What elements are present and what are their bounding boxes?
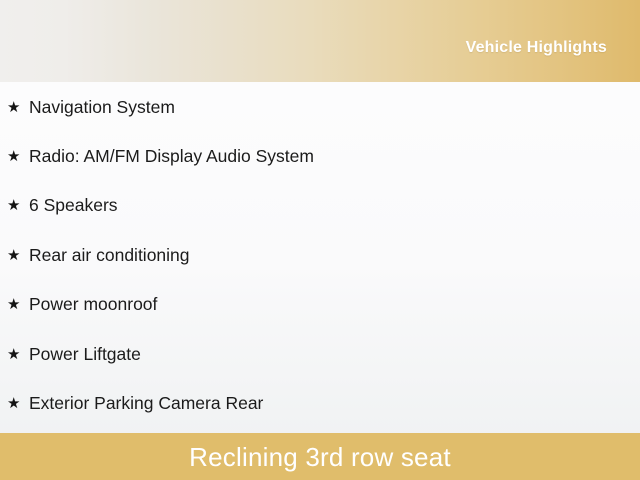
list-item-label: Exterior Parking Camera Rear: [29, 394, 263, 413]
list-item: ★ Exterior Parking Camera Rear: [0, 379, 640, 429]
star-icon: ★: [7, 149, 29, 164]
list-item-label: 6 Speakers: [29, 196, 118, 215]
list-item-label: Power Liftgate: [29, 345, 141, 364]
star-icon: ★: [7, 347, 29, 362]
list-item-label: Radio: AM/FM Display Audio System: [29, 147, 314, 166]
vehicle-highlights-list: ★ Navigation System ★ Radio: AM/FM Displ…: [0, 82, 640, 433]
star-icon: ★: [7, 248, 29, 263]
list-item: ★ Rear air conditioning: [0, 231, 640, 281]
star-icon: ★: [7, 297, 29, 312]
list-item: ★ Navigation System: [0, 82, 640, 132]
list-item-label: Rear air conditioning: [29, 246, 190, 265]
list-item: ★ 6 Speakers: [0, 181, 640, 231]
list-item: ★ Radio: AM/FM Display Audio System: [0, 132, 640, 182]
star-icon: ★: [7, 198, 29, 213]
page-title: Vehicle Highlights: [466, 26, 607, 56]
star-icon: ★: [7, 396, 29, 411]
bottom-caption-banner: Reclining 3rd row seat: [0, 433, 640, 480]
list-item: ★ Power Liftgate: [0, 330, 640, 380]
list-item-label: Navigation System: [29, 98, 175, 117]
list-item-label: Power moonroof: [29, 295, 157, 314]
vehicle-highlights-slide: Vehicle Highlights ★ Navigation System ★…: [0, 0, 640, 480]
star-icon: ★: [7, 100, 29, 115]
list-item: ★ Power moonroof: [0, 280, 640, 330]
header-bar: Vehicle Highlights: [0, 0, 640, 82]
banner-caption-text: Reclining 3rd row seat: [189, 444, 451, 470]
